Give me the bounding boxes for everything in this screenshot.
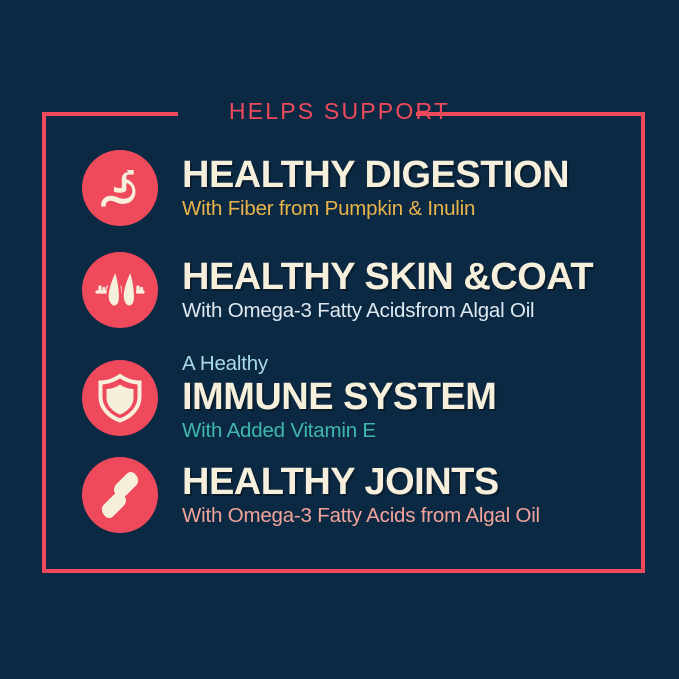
shield-icon-badge — [82, 360, 158, 436]
stomach-icon — [96, 164, 144, 212]
benefit-row-immune: A Healthy IMMUNE SYSTEM With Added Vitam… — [82, 352, 496, 444]
benefit-text-immune: A Healthy IMMUNE SYSTEM With Added Vitam… — [182, 352, 496, 444]
hair-follicle-icon — [94, 266, 146, 314]
benefit-headline: HEALTHY SKIN &COAT — [182, 257, 593, 297]
shield-icon — [96, 373, 144, 423]
benefit-subline: With Omega-3 Fatty Acids from Algal Oil — [182, 503, 540, 529]
benefit-text-digestion: HEALTHY DIGESTION With Fiber from Pumpki… — [182, 155, 569, 222]
benefits-poster: HELPS SUPPORT HEALTHY DIGESTION With Fib… — [0, 0, 679, 679]
benefit-text-skin-coat: HEALTHY SKIN &COAT With Omega-3 Fatty Ac… — [182, 257, 593, 324]
bone-joint-icon-badge — [82, 457, 158, 533]
benefit-row-joints: HEALTHY JOINTS With Omega-3 Fatty Acids … — [82, 457, 540, 533]
benefit-headline: IMMUNE SYSTEM — [182, 377, 496, 417]
bone-joint-icon — [95, 470, 145, 520]
benefit-eyebrow: A Healthy — [182, 352, 496, 376]
hair-follicle-icon-badge — [82, 252, 158, 328]
benefit-subline: With Omega-3 Fatty Acidsfrom Algal Oil — [182, 298, 593, 324]
benefit-headline: HEALTHY DIGESTION — [182, 155, 569, 195]
benefit-headline: HEALTHY JOINTS — [182, 462, 540, 502]
benefit-text-joints: HEALTHY JOINTS With Omega-3 Fatty Acids … — [182, 462, 540, 529]
stomach-icon-badge — [82, 150, 158, 226]
benefit-row-digestion: HEALTHY DIGESTION With Fiber from Pumpki… — [82, 150, 569, 226]
page-title: HELPS SUPPORT — [0, 96, 679, 126]
benefit-subline: With Added Vitamin E — [182, 418, 496, 444]
benefit-subline: With Fiber from Pumpkin & Inulin — [182, 196, 569, 222]
benefit-row-skin-coat: HEALTHY SKIN &COAT With Omega-3 Fatty Ac… — [82, 252, 593, 328]
